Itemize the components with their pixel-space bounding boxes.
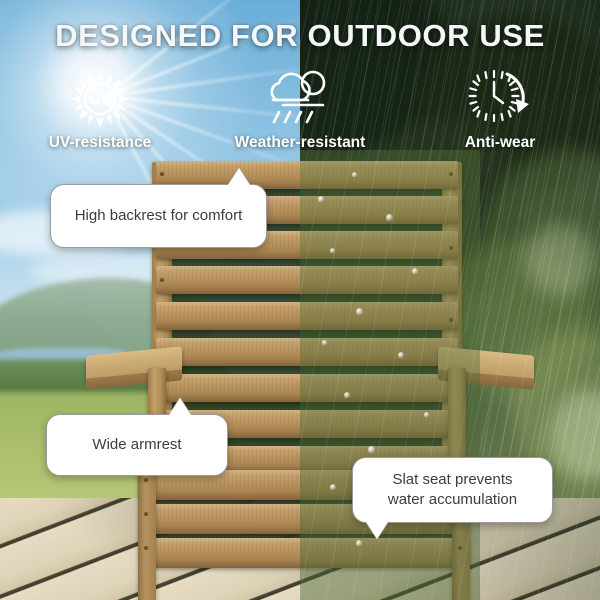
backrest-gap [172,294,442,302]
backrest-gap [172,259,442,266]
backrest-slat [156,338,458,366]
backrest-gap [172,366,442,374]
callout-backrest[interactable]: High backrest for comfort [50,184,267,248]
feature-badges: UV [0,68,600,158]
callout-armrest[interactable]: Wide armrest [46,414,228,476]
feature-weather-resistant: Weather-resistant [215,68,385,152]
feature-uv-resistance: UV [15,68,185,152]
feature-label: Anti-wear [465,134,536,152]
callout-text: High backrest for comfort [75,206,243,226]
callout-text: Wide armrest [92,435,181,455]
rain-cloud-sun-icon [263,68,337,130]
uv-sun-icon: UV [69,68,131,130]
callout-seat[interactable]: Slat seat prevents water accumulation [352,457,553,523]
product-feature-image: DESIGNED FOR OUTDOOR USE UV [0,0,600,600]
svg-text:UV: UV [90,92,110,108]
backrest-slat [156,302,458,330]
backrest-gap [172,402,442,410]
feature-label: Weather-resistant [235,134,366,152]
callout-text-line1: Slat seat prevents [392,470,512,490]
feature-label: UV-resistance [49,134,152,152]
armrest-right-support [448,368,466,464]
backrest-slat [156,266,458,294]
callout-backrest-tail [228,168,250,185]
seat-slat [140,538,470,568]
feature-anti-wear: Anti-wear [415,68,585,152]
clock-arrow-icon [466,68,534,130]
backrest-slat [156,374,458,402]
backrest-gap [172,330,442,338]
callout-armrest-tail [169,398,191,415]
callout-seat-tail [366,522,388,539]
callout-text-line2: water accumulation [388,490,517,510]
page-title: DESIGNED FOR OUTDOOR USE [0,18,600,54]
